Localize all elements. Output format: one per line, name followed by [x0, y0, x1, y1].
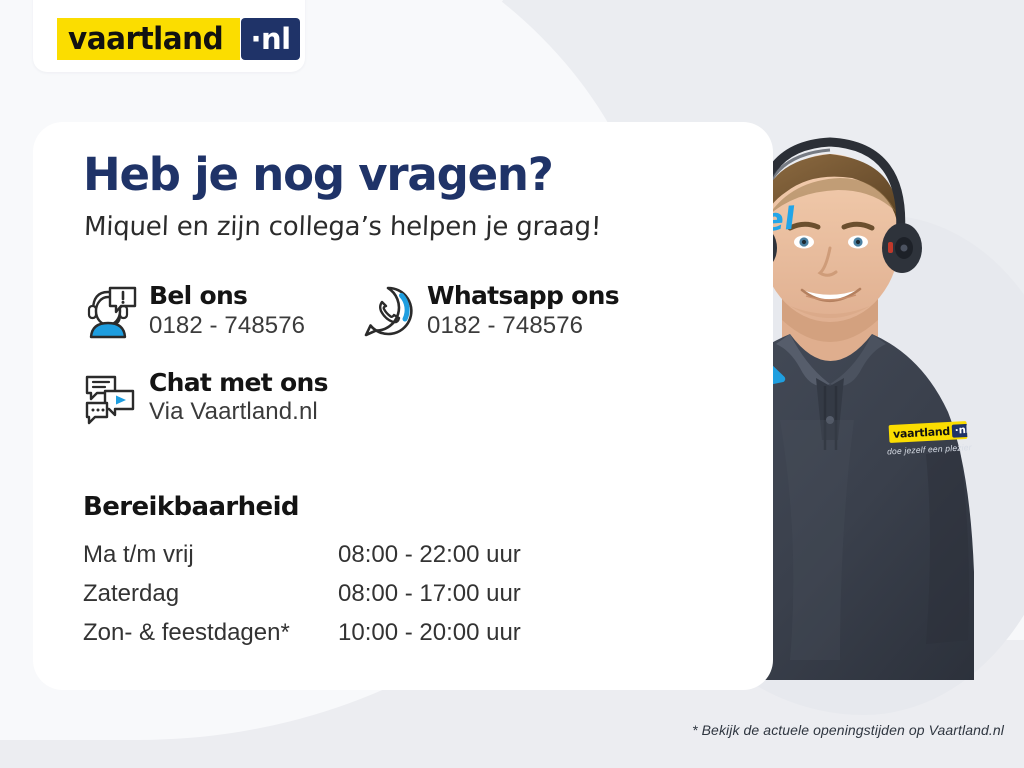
shirt-logo-tld: ·nl [952, 423, 968, 437]
contact-row-secondary: Chat met ons Via Vaartland.nl [83, 369, 683, 429]
contact-whatsapp-title: Whatsapp ons [427, 282, 619, 310]
contact-item-phone[interactable]: Bel ons 0182 - 748576 [83, 282, 361, 342]
headset-agent-icon [83, 284, 137, 340]
contact-methods: Bel ons 0182 - 748576 Whatsapp on [83, 282, 683, 429]
contact-phone-title: Bel ons [149, 282, 305, 310]
availability-day: Ma t/m vrij [83, 536, 338, 575]
availability-title: Bereikbaarheid [83, 492, 643, 522]
whatsapp-icon [361, 284, 415, 340]
availability-table-body: Ma t/m vrij 08:00 - 22:00 uur Zaterdag 0… [83, 536, 521, 652]
availability-hours: 10:00 - 20:00 uur [338, 614, 521, 653]
contact-chat-title: Chat met ons [149, 369, 328, 397]
contact-chat-text: Chat met ons Via Vaartland.nl [149, 369, 328, 429]
logo-card: vaartland ·nl [33, 0, 305, 72]
contact-whatsapp-value: 0182 - 748576 [427, 310, 619, 342]
vaartland-logo[interactable]: vaartland ·nl [57, 18, 300, 60]
contact-item-whatsapp[interactable]: Whatsapp ons 0182 - 748576 [361, 282, 619, 342]
table-row: Ma t/m vrij 08:00 - 22:00 uur [83, 536, 521, 575]
page-title: Heb je nog vragen? [83, 152, 553, 197]
contact-chat-value: Via Vaartland.nl [149, 396, 328, 428]
availability-table: Ma t/m vrij 08:00 - 22:00 uur Zaterdag 0… [83, 536, 521, 652]
availability-hours: 08:00 - 17:00 uur [338, 575, 521, 614]
table-row: Zaterdag 08:00 - 17:00 uur [83, 575, 521, 614]
availability-hours: 08:00 - 22:00 uur [338, 536, 521, 575]
contact-whatsapp-text: Whatsapp ons 0182 - 748576 [427, 282, 619, 342]
logo-navy-block: ·nl [241, 18, 299, 60]
logo-wordmark: vaartland [68, 24, 223, 55]
contact-phone-text: Bel ons 0182 - 748576 [149, 282, 305, 342]
table-row: Zon- & feestdagen* 10:00 - 20:00 uur [83, 614, 521, 653]
footnote: * Bekijk de actuele openingstijden op Va… [0, 722, 1004, 738]
logo-yellow-block: vaartland [57, 18, 240, 60]
availability-day: Zaterdag [83, 575, 338, 614]
contact-phone-value: 0182 - 748576 [149, 310, 305, 342]
promo-banner: vaartland ·nl [0, 0, 1024, 768]
contact-row-primary: Bel ons 0182 - 748576 Whatsapp on [83, 282, 683, 342]
shirt-logo-word: vaartland [889, 424, 951, 440]
chat-bubbles-icon [83, 371, 137, 427]
content-card: Heb je nog vragen? Miquel en zijn colleg… [33, 122, 773, 690]
availability-section: Bereikbaarheid Ma t/m vrij 08:00 - 22:00… [83, 492, 643, 652]
availability-day: Zon- & feestdagen* [83, 614, 338, 653]
page-subtitle: Miquel en zijn collega’s helpen je graag… [84, 214, 602, 240]
contact-item-chat[interactable]: Chat met ons Via Vaartland.nl [83, 369, 361, 429]
logo-tld: ·nl [250, 25, 290, 54]
